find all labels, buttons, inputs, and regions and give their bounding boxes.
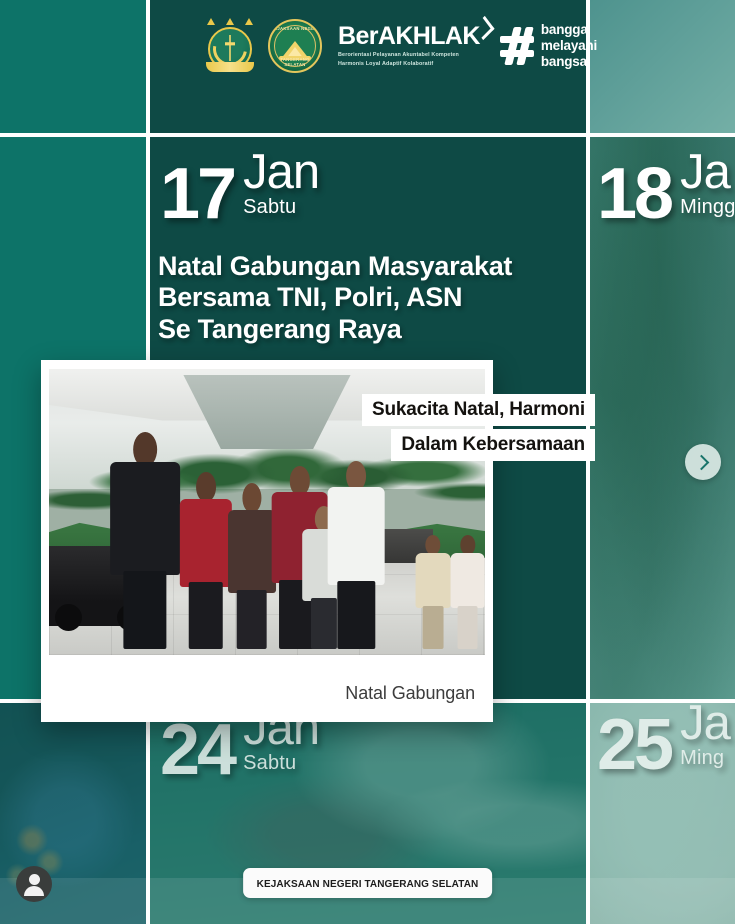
date-number: 18 <box>597 165 671 224</box>
caption-line-1: Sukacita Natal, Harmoni <box>362 394 595 426</box>
date-month: Ja <box>680 703 730 745</box>
berakhlak-tagline: Berorientasi Pelayanan Akuntabel Kompete… <box>338 51 480 68</box>
headline-line-1: Natal Gabungan Masyarakat <box>158 251 578 282</box>
date-number: 24 <box>160 721 234 780</box>
tagline-line-2: Harmonis Loyal Adaptif Kolaboratif <box>338 60 480 68</box>
grid-divider-vertical-right <box>586 0 590 924</box>
header-logo-bar: KEJAKSAAN NEGERI TANGERANG SELATAN BerAK… <box>150 0 586 133</box>
chevron-right-icon <box>694 454 710 470</box>
date-block-18: 18 Ja Mingg <box>597 152 735 224</box>
seal-bottom-text: TANGERANG SELATAN <box>270 57 320 67</box>
photo-card-caption: Natal Gabungan <box>345 683 475 704</box>
story-canvas: KEJAKSAAN NEGERI TANGERANG SELATAN BerAK… <box>0 0 735 924</box>
next-slide-button[interactable] <box>685 444 721 480</box>
date-month: Ja <box>680 152 735 194</box>
headline-line-2: Bersama TNI, Polri, ASN <box>158 282 578 313</box>
date-weekday: Mingg <box>680 195 735 220</box>
organization-name: KEJAKSAAN NEGERI TANGERANG SELATAN <box>257 879 479 890</box>
date-block-17: 17 Jan Sabtu <box>160 152 319 224</box>
motto-line-2: melayani <box>541 38 597 54</box>
caption-line-2: Dalam Kebersamaan <box>391 429 595 461</box>
bangga-melayani-bangsa-logo: bangga melayani bangsa <box>500 22 597 70</box>
kejaksaan-emblem-icon <box>202 18 258 74</box>
motto-line-3: bangsa <box>541 54 597 70</box>
motto-line-1: bangga <box>541 22 597 38</box>
organization-badge[interactable]: KEJAKSAAN NEGERI TANGERANG SELATAN <box>243 868 493 898</box>
hash-mark-icon <box>500 27 534 65</box>
date-number: 17 <box>160 165 234 224</box>
berakhlak-brand: BerAKHLAK Berorientasi Pelayanan Akuntab… <box>338 24 480 68</box>
kejari-tangsel-seal-icon: KEJAKSAAN NEGERI TANGERANG SELATAN <box>268 19 322 73</box>
grid-cell-top-right <box>590 0 735 133</box>
profile-avatar-button[interactable] <box>16 866 52 902</box>
berakhlak-wordmark: BerAKHLAK <box>338 24 480 49</box>
date-month: Jan <box>243 152 319 194</box>
grid-divider-horizontal-top <box>0 133 735 137</box>
overlay-caption: Sukacita Natal, Harmoni Dalam Kebersamaa… <box>362 394 595 461</box>
seal-top-text: KEJAKSAAN NEGERI <box>270 26 320 31</box>
motto-lines: bangga melayani bangsa <box>541 22 597 70</box>
grid-cell-top-left <box>0 0 146 133</box>
tagline-line-1: Berorientasi Pelayanan Akuntabel Kompete… <box>338 51 480 59</box>
logo-row: KEJAKSAAN NEGERI TANGERANG SELATAN BerAK… <box>202 18 597 74</box>
date-number: 25 <box>597 716 671 775</box>
date-block-25: 25 Ja Ming <box>597 703 730 775</box>
headline-line-3: Se Tangerang Raya <box>158 314 578 345</box>
event-headline: Natal Gabungan Masyarakat Bersama TNI, P… <box>158 251 578 345</box>
date-weekday: Ming <box>680 746 730 771</box>
person-icon <box>29 874 40 885</box>
